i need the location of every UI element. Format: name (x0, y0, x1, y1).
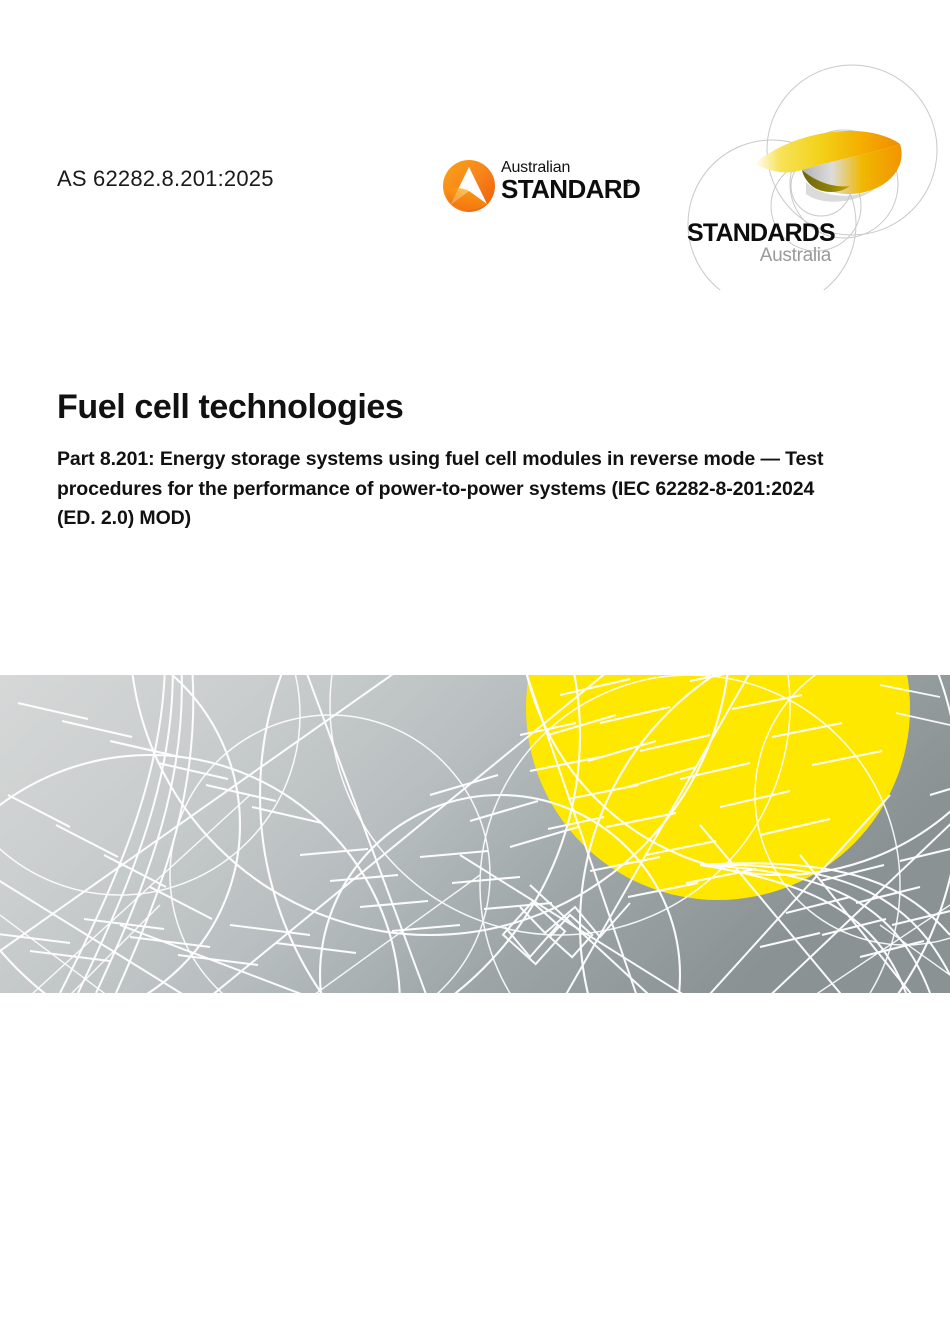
cover-header: AS 62282.8.201:2025 (0, 0, 950, 300)
title-block: Fuel cell technologies Part 8.201: Energ… (57, 388, 867, 534)
standards-australia-wordmark: STANDARDS Australia (687, 220, 847, 266)
australian-standard-wordmark: Australian STANDARD ® (501, 158, 633, 214)
standards-australia-word-bottom: Australia (687, 246, 831, 266)
standard-number: AS 62282.8.201:2025 (57, 166, 274, 192)
standards-australia-logo: STANDARDS Australia (676, 58, 950, 290)
australian-standard-logo: Australian STANDARD ® (443, 158, 633, 216)
cover-artwork-band (0, 675, 950, 993)
page-subtitle: Part 8.201: Energy storage systems using… (57, 445, 857, 534)
registered-trademark-icon: ® (625, 178, 632, 188)
page-title: Fuel cell technologies (57, 388, 867, 427)
australian-standard-word-bottom: STANDARD (501, 176, 640, 202)
australian-standard-triangle-mark-icon (443, 160, 495, 212)
standards-australia-word-top: STANDARDS (687, 220, 847, 246)
